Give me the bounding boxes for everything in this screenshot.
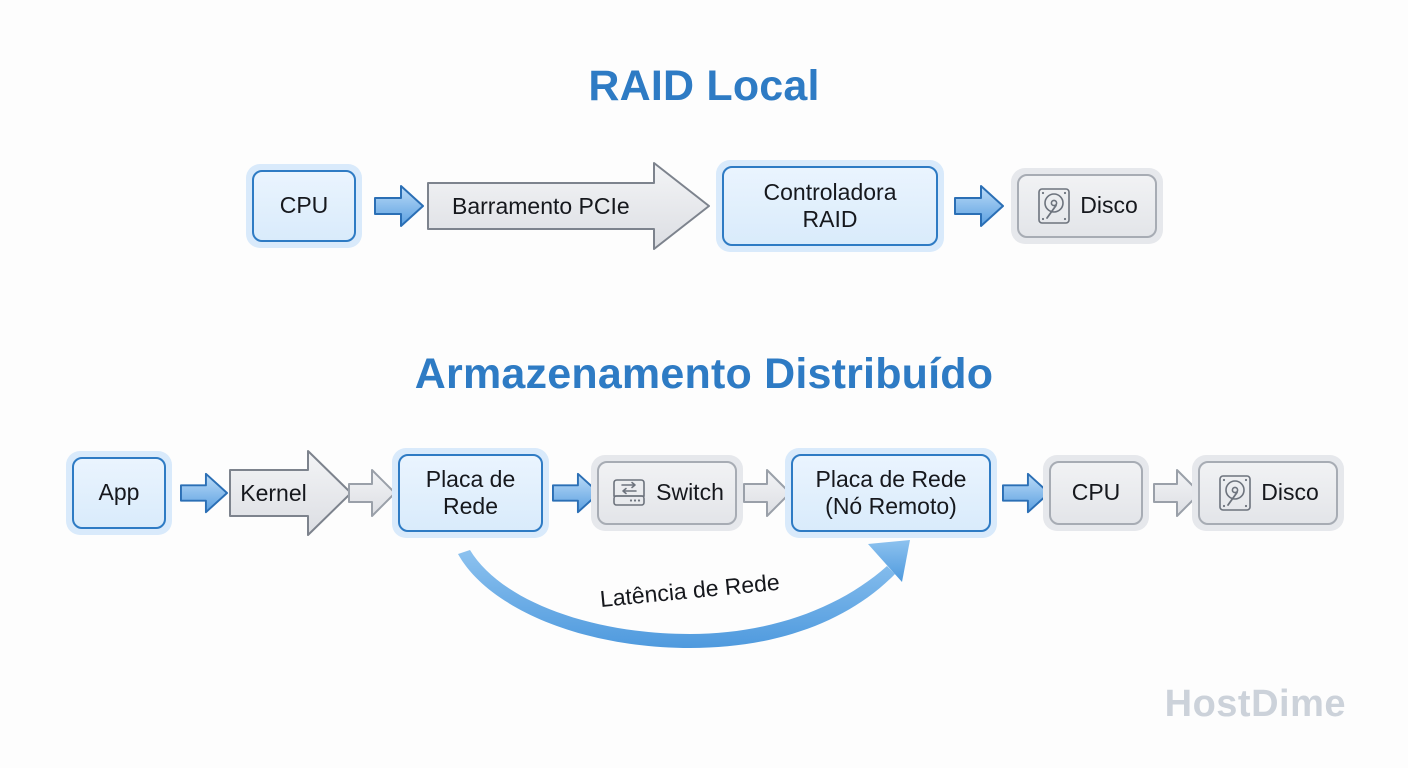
node-cpu[interactable]: CPU — [246, 164, 362, 248]
arrow-app-to-kernel — [180, 470, 228, 521]
node-cpu-remota-inner: CPU — [1049, 461, 1143, 525]
node-disco-remoto[interactable]: Disco — [1192, 455, 1344, 531]
arrow-kernel-to-placa — [348, 468, 396, 523]
hard-disk-icon — [1217, 473, 1253, 513]
gray-chevron-icon — [743, 468, 791, 518]
blue-chevron-icon — [374, 183, 424, 229]
node-disco-remoto-label: Disco — [1261, 479, 1319, 506]
node-app-inner: App — [72, 457, 166, 529]
node-barramento-pcie-label: Barramento PCIe — [426, 160, 712, 252]
node-switch-label: Switch — [656, 479, 724, 506]
node-switch[interactable]: Switch — [591, 455, 743, 531]
node-kernel-label: Kernel — [228, 448, 353, 538]
node-placa-de-rede-remota[interactable]: Placa de Rede (Nó Remoto) — [785, 448, 997, 538]
hard-disk-icon — [1036, 186, 1072, 226]
node-app-label: App — [99, 479, 140, 506]
node-disco-label: Disco — [1080, 192, 1138, 219]
node-controladora-raid-inner: Controladora RAID — [722, 166, 938, 246]
node-placa-de-rede-inner: Placa de Rede — [398, 454, 543, 532]
node-kernel[interactable]: Kernel — [228, 448, 353, 538]
node-app[interactable]: App — [66, 451, 172, 535]
node-cpu-inner: CPU — [252, 170, 356, 242]
hostdime-watermark: HostDime — [1165, 683, 1346, 726]
node-disco-remoto-inner: Disco — [1198, 461, 1338, 525]
node-placa-de-rede-remota-inner: Placa de Rede (Nó Remoto) — [791, 454, 991, 532]
diagram-canvas: RAID Local CPU Barramento PCIe — [0, 0, 1408, 768]
node-controladora-raid[interactable]: Controladora RAID — [716, 160, 944, 252]
node-cpu-label: CPU — [280, 192, 329, 219]
node-cpu-remota-label: CPU — [1072, 479, 1121, 506]
node-placa-de-rede-label: Placa de Rede — [426, 466, 516, 520]
arrow-raid-to-disco — [954, 183, 1004, 234]
blue-chevron-icon — [180, 470, 228, 516]
gray-chevron-icon — [348, 468, 396, 518]
node-disco[interactable]: Disco — [1011, 168, 1163, 244]
blue-chevron-icon — [954, 183, 1004, 229]
network-switch-icon — [610, 476, 648, 510]
node-controladora-raid-label: Controladora RAID — [764, 179, 897, 233]
node-placa-de-rede-remota-label: Placa de Rede (Nó Remoto) — [816, 466, 967, 520]
section-title-raid-local: RAID Local — [0, 62, 1408, 111]
node-switch-inner: Switch — [597, 461, 737, 525]
node-disco-inner: Disco — [1017, 174, 1157, 238]
node-cpu-remota[interactable]: CPU — [1043, 455, 1149, 531]
node-barramento-pcie[interactable]: Barramento PCIe — [426, 160, 712, 252]
arrow-switch-to-placa-remota — [743, 468, 791, 523]
arrow-cpu-to-pcie — [374, 183, 424, 234]
node-placa-de-rede[interactable]: Placa de Rede — [392, 448, 549, 538]
section-title-armazenamento-distribuido: Armazenamento Distribuído — [0, 350, 1408, 399]
